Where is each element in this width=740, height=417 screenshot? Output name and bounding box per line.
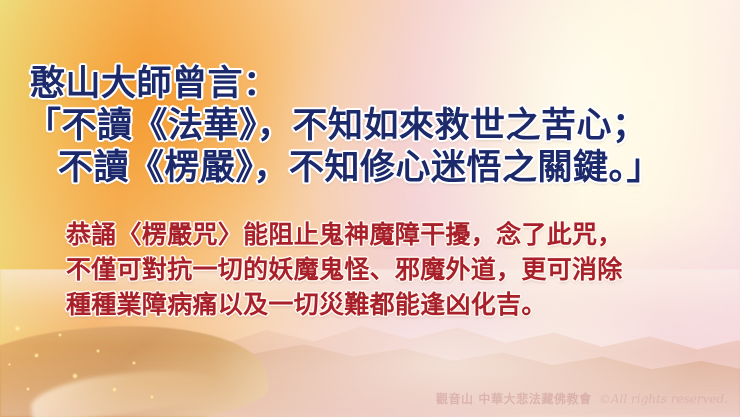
quote-line-3: 不讀《楞嚴》，不知修心迷悟之關鍵。」 bbox=[58, 150, 740, 185]
paragraph-line-3: 種種業障病痛以及一切災難都能逢凶化吉。 bbox=[66, 292, 740, 317]
watermark-rights: ©All rights reserved. bbox=[599, 392, 728, 406]
description-paragraph-block: 恭誦〈楞嚴咒〉能阻止鬼神魔障干擾，念了此咒， 不僅可對抗一切的妖魔鬼怪、邪魔外道… bbox=[0, 222, 740, 317]
paragraph-line-2: 不僅可對抗一切的妖魔鬼怪、邪魔外道，更可消除 bbox=[66, 257, 740, 282]
slide-canvas: 憨山大師曾言： 「不讀《法華》，不知如來救世之苦心； 不讀《楞嚴》，不知修心迷悟… bbox=[0, 0, 740, 417]
quote-line-1: 憨山大師曾言： bbox=[30, 66, 740, 101]
quote-title-block: 憨山大師曾言： 「不讀《法華》，不知如來救世之苦心； 不讀《楞嚴》，不知修心迷悟… bbox=[0, 66, 740, 185]
slide-text-content: 憨山大師曾言： 「不讀《法華》，不知如來救世之苦心； 不讀《楞嚴》，不知修心迷悟… bbox=[0, 0, 740, 417]
quote-line-2: 「不讀《法華》，不知如來救世之苦心； bbox=[26, 108, 740, 143]
paragraph-line-1: 恭誦〈楞嚴咒〉能阻止鬼神魔障干擾，念了此咒， bbox=[66, 222, 740, 247]
watermark-organization: 觀音山 中華大悲法藏佛教會 bbox=[436, 390, 592, 407]
watermark: 觀音山 中華大悲法藏佛教會 ©All rights reserved. bbox=[436, 390, 728, 407]
